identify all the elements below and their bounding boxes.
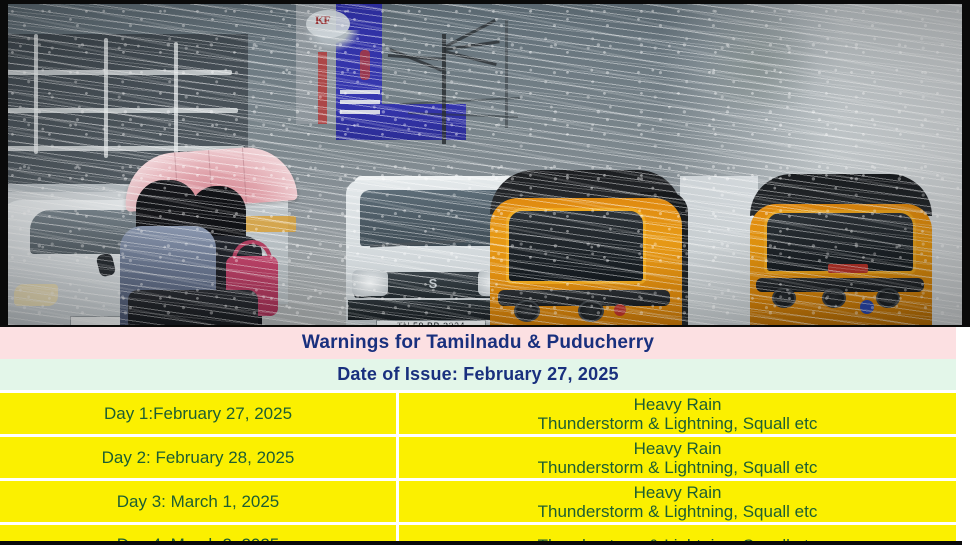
panel-right-margin — [956, 327, 970, 545]
rickshaw-number-plate — [828, 264, 868, 273]
photo-canvas: KF S TN 59 — [8, 4, 962, 325]
motorcycle — [128, 290, 258, 325]
railing-post — [34, 34, 38, 154]
rickshaw-indicator — [614, 304, 626, 316]
warning-line-2: Thunderstorm & Lightning, Squall etc — [538, 502, 818, 521]
rickshaw-headlight — [772, 288, 796, 308]
auto-rickshaw-right — [750, 170, 932, 325]
van-brand-logo: S — [424, 276, 442, 290]
warning-cell: Heavy Rain Thunderstorm & Lightning, Squ… — [399, 481, 956, 522]
table-row: Day 3: March 1, 2025 Heavy Rain Thunders… — [0, 481, 956, 522]
van-headlight — [352, 270, 388, 296]
billboard-red-stripe — [318, 52, 327, 124]
rickshaw-headlight — [876, 288, 900, 308]
railing-post — [174, 42, 178, 160]
day-cell: Day 1:February 27, 2025 — [0, 393, 396, 434]
rickshaw-headlight — [514, 300, 540, 322]
warnings-table: Day 1:February 27, 2025 Heavy Rain Thund… — [0, 390, 956, 545]
hatchback-headlight — [14, 284, 58, 306]
kingfisher-logo-icon: KF — [306, 10, 350, 38]
warning-line-1: Heavy Rain — [538, 439, 818, 458]
background-tree — [698, 4, 818, 109]
warning-line-2: Thunderstorm & Lightning, Squall etc — [538, 414, 818, 433]
utility-pole — [505, 20, 508, 128]
billboard-logo-text: KF — [315, 13, 330, 28]
van-license-plate: TN 59 BB 2224 — [376, 320, 486, 325]
panel-title: Warnings for Tamilnadu & Puducherry — [0, 327, 956, 359]
warning-line-1: Heavy Rain — [538, 395, 818, 414]
warning-cell: Heavy Rain Thunderstorm & Lightning, Squ… — [399, 393, 956, 434]
date-of-issue: Date of Issue: February 27, 2025 — [0, 359, 956, 390]
rickshaw-badge — [860, 300, 874, 314]
billboard-text-lines — [340, 90, 380, 130]
warning-panel: Warnings for Tamilnadu & Puducherry Date… — [0, 327, 956, 545]
table-row: Day 1:February 27, 2025 Heavy Rain Thund… — [0, 393, 956, 434]
billboard-red-stripe — [360, 50, 370, 80]
railing-bar — [8, 108, 238, 113]
rickshaw-headlight — [578, 300, 604, 322]
rickshaw-windshield — [506, 208, 646, 284]
table-row: Day 2: February 28, 2025 Heavy Rain Thun… — [0, 437, 956, 478]
page-root: KF S TN 59 — [0, 0, 970, 545]
warning-line-2: Thunderstorm & Lightning, Squall etc — [538, 458, 818, 477]
railing-post — [104, 38, 108, 158]
day-cell: Day 2: February 28, 2025 — [0, 437, 396, 478]
day-cell: Day 3: March 1, 2025 — [0, 481, 396, 522]
background-vehicle — [680, 176, 758, 325]
rickshaw-headlight — [822, 288, 846, 308]
railing-bar — [8, 70, 232, 75]
panel-bottom-border — [0, 541, 962, 545]
auto-rickshaw-left — [490, 162, 682, 325]
warning-line-1: Heavy Rain — [538, 483, 818, 502]
warning-cell: Heavy Rain Thunderstorm & Lightning, Squ… — [399, 437, 956, 478]
weather-photo: KF S TN 59 — [0, 0, 970, 327]
van-windshield — [360, 190, 510, 246]
